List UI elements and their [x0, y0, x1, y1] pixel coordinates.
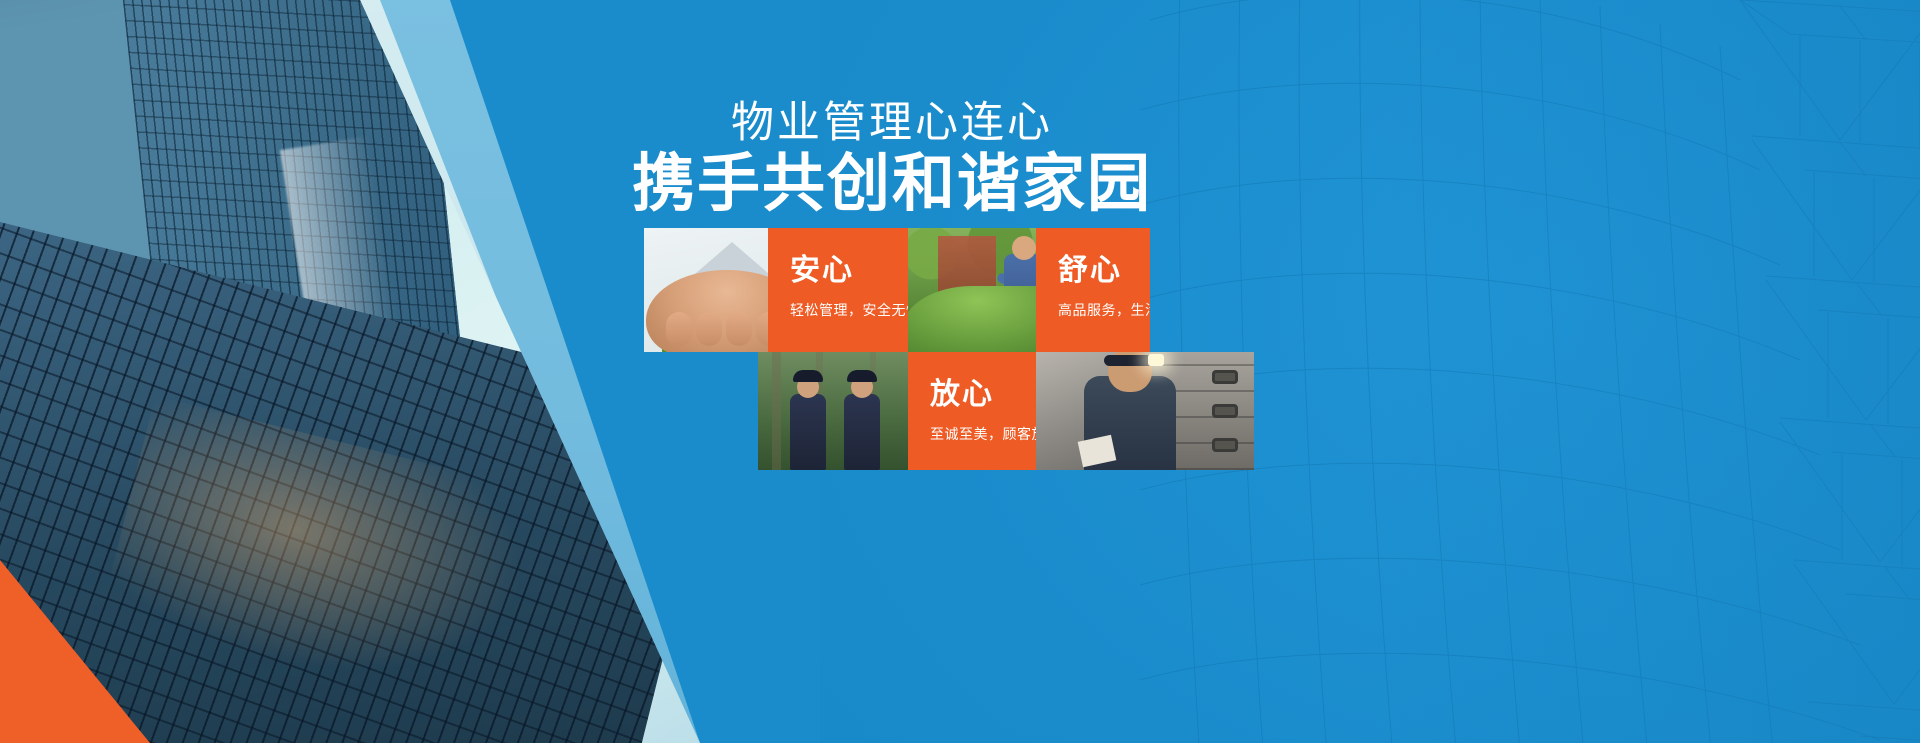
fangxin-subtitle: 至诚至美，顾客放心	[930, 426, 1036, 443]
anxin-title: 安心	[790, 256, 908, 286]
electrician-switchgear-photo	[1036, 352, 1254, 470]
gardener-trimming-hedge-photo	[908, 228, 1036, 352]
right-edge-shade	[1380, 0, 1920, 743]
anxin-subtitle: 轻松管理，安全无忧	[790, 302, 908, 319]
fangxin-title: 放心	[930, 380, 1036, 410]
property-management-banner: 物业管理心连心 携手共创和谐家园 安心 轻松管理，安全无忧	[0, 0, 1920, 743]
headline-block: 物业管理心连心 携手共创和谐家园	[632, 100, 1152, 220]
banner-title: 携手共创和谐家园	[632, 150, 1152, 219]
banner-subtitle: 物业管理心连心	[632, 100, 1152, 146]
shuxin-card[interactable]: 舒心 高品服务，生活好管家	[1036, 228, 1150, 352]
security-guards-photo	[758, 352, 908, 470]
shuxin-title: 舒心	[1058, 256, 1150, 286]
feature-mosaic: 安心 轻松管理，安全无忧 舒心 高品服务，生活好管家	[644, 228, 1254, 470]
fangxin-card[interactable]: 放心 至诚至美，顾客放心	[908, 352, 1036, 470]
anxin-card[interactable]: 安心 轻松管理，安全无忧	[768, 228, 908, 352]
shuxin-subtitle: 高品服务，生活好管家	[1058, 302, 1150, 319]
hands-holding-house-photo	[644, 228, 768, 352]
